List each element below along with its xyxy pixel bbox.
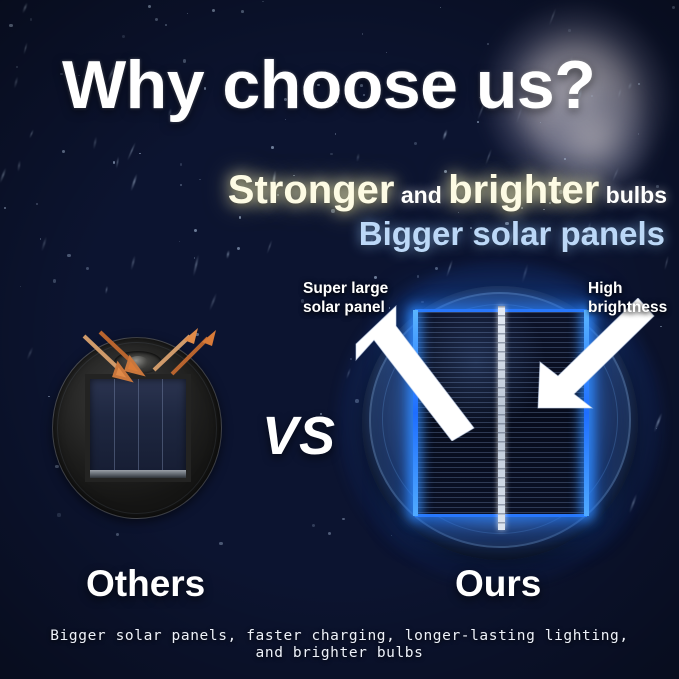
subheadline-line-2: Bigger solar panels — [0, 215, 665, 253]
callout-high-brightness: High brightness — [588, 279, 667, 318]
page-title: Why choose us? — [62, 46, 595, 124]
others-panel-cell-line — [138, 379, 139, 477]
others-panel-bar — [90, 470, 186, 478]
callout-left-line-1: Super large — [303, 279, 388, 298]
callout-right-line-2: brightness — [588, 298, 667, 317]
bottom-caption: Bigger solar panels, faster charging, lo… — [0, 628, 679, 661]
others-panel-cell-line — [114, 379, 115, 477]
label-ours: Ours — [455, 563, 541, 605]
subheadline-stronger: Stronger — [228, 168, 395, 212]
versus-label: VS — [262, 405, 336, 467]
caption-line-2: and brighter bulbs — [0, 645, 679, 662]
marketing-image: Why choose us? Stronger and brighter bul… — [0, 0, 679, 679]
subheadline-and: and — [394, 182, 448, 208]
subheadline-line-1: Stronger and brighter bulbs — [0, 168, 667, 213]
ours-panel-busbar — [498, 306, 505, 530]
copper-arrow-icon — [78, 330, 150, 388]
callout-left-line-2: solar panel — [303, 298, 388, 317]
others-solar-panel — [90, 379, 186, 477]
callout-right-line-1: High — [588, 279, 667, 298]
arrow-down-left-icon — [528, 298, 658, 448]
subheadline-brighter: brighter — [448, 168, 599, 212]
others-panel-cell-line — [162, 379, 163, 477]
subheadline-bulbs: bulbs — [599, 182, 667, 208]
caption-line-1: Bigger solar panels, faster charging, lo… — [0, 628, 679, 645]
copper-arrow-icon — [150, 326, 222, 384]
label-others: Others — [86, 563, 205, 605]
arrow-up-left-icon — [352, 296, 482, 441]
callout-super-large-solar-panel: Super large solar panel — [303, 279, 388, 318]
